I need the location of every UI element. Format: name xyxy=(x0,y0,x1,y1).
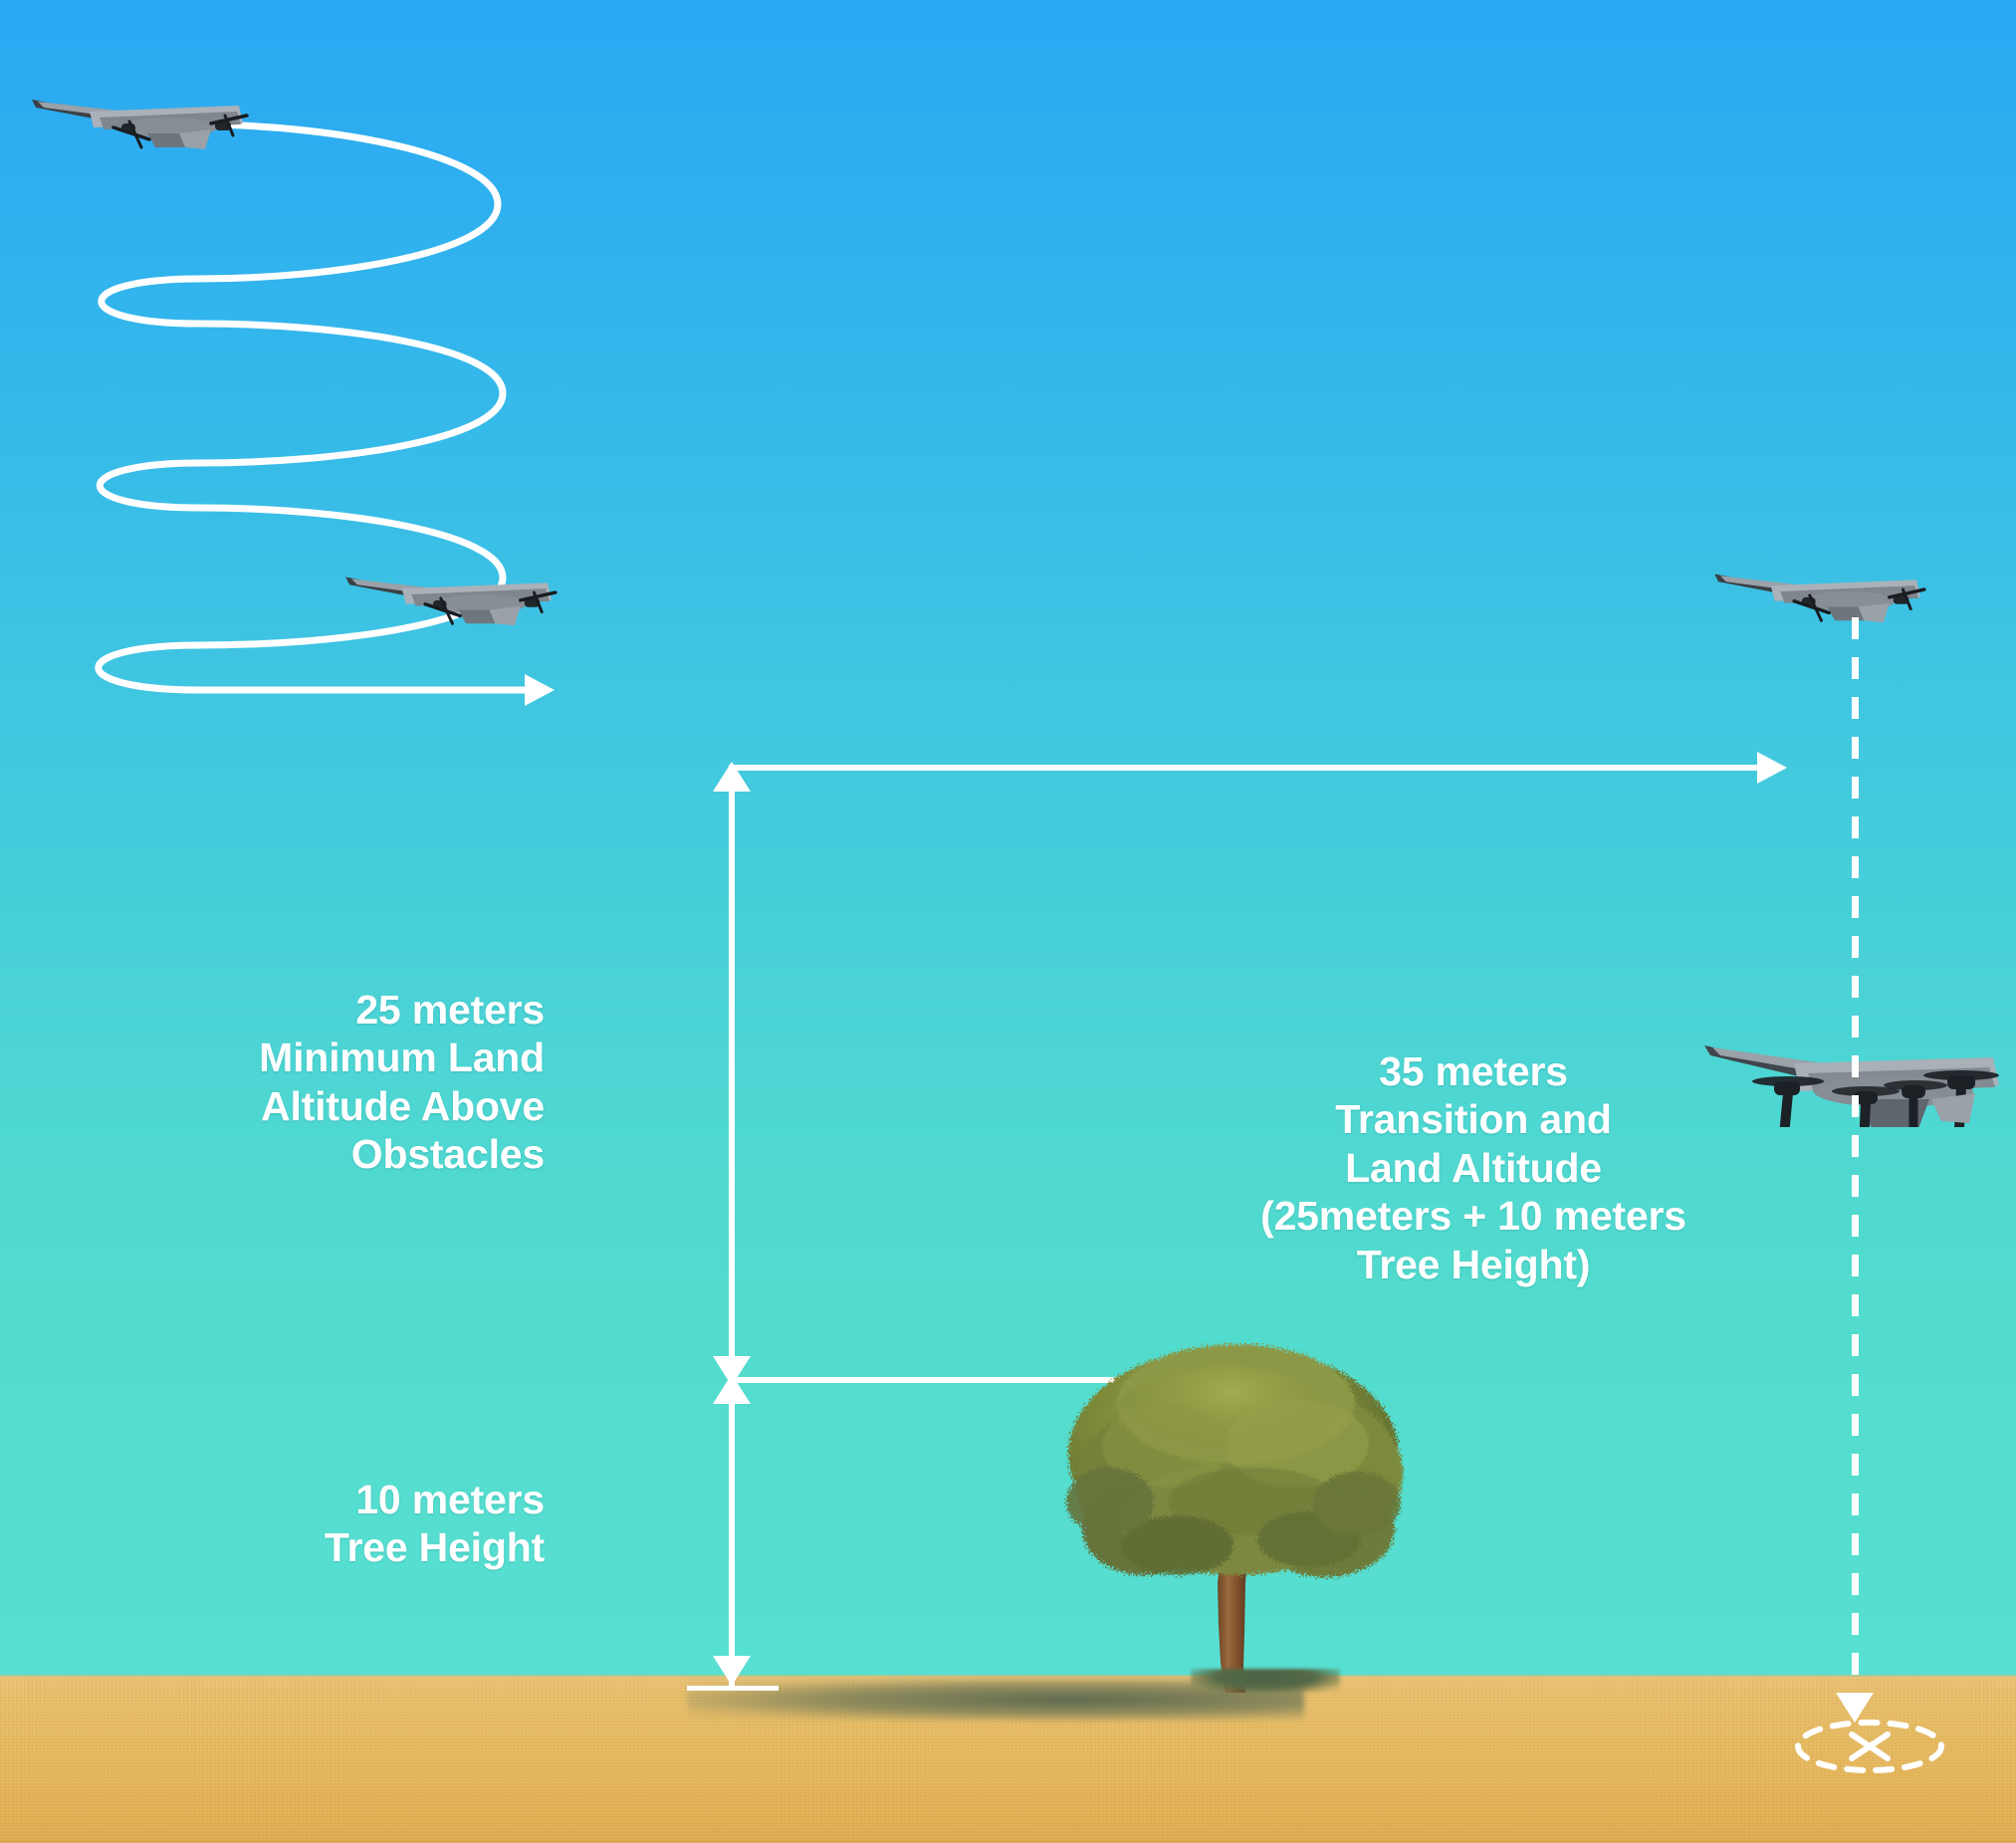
label-line: Tree Height) xyxy=(1185,1241,1762,1288)
label-line: Obstacles xyxy=(0,1130,545,1178)
label-line: Altitude Above xyxy=(0,1082,545,1130)
label-line: Tree Height xyxy=(0,1523,545,1571)
minimum-altitude-measure-line xyxy=(729,765,735,1386)
label-line: Land Altitude xyxy=(1185,1144,1762,1192)
fixed-wing-vtol-drone-icon xyxy=(343,556,558,635)
label-line: (25meters + 10 meters xyxy=(1185,1192,1762,1240)
minimum-altitude-top-arrowhead xyxy=(713,762,751,792)
fixed-wing-vtol-drone-icon xyxy=(1712,553,1926,632)
transition-land-altitude-label: 35 meters Transition and Land Altitude (… xyxy=(1185,1047,1762,1288)
label-line: 25 meters xyxy=(0,986,545,1034)
horizontal-cruise-arrow-line xyxy=(732,765,1765,771)
tree-obstacle xyxy=(1058,1334,1409,1693)
minimum-land-altitude-label: 25 meters Minimum Land Altitude Above Ob… xyxy=(0,986,545,1179)
label-line: 35 meters xyxy=(1185,1047,1762,1095)
label-line: 10 meters xyxy=(0,1476,545,1523)
label-line: Transition and xyxy=(1185,1095,1762,1143)
vertical-descent-dashed-line xyxy=(1852,617,1859,1723)
fixed-wing-vtol-drone-icon xyxy=(30,78,249,159)
spiral-path-arrowhead xyxy=(525,674,555,706)
tree-height-baseline-tick xyxy=(687,1686,779,1691)
tree-height-measure-line xyxy=(729,1380,735,1689)
tree-base-grass xyxy=(1191,1669,1340,1693)
tree-height-bottom-arrowhead xyxy=(713,1656,751,1686)
tree-height-label: 10 meters Tree Height xyxy=(0,1476,545,1572)
label-line: Minimum Land xyxy=(0,1034,545,1081)
landing-target-marker xyxy=(1790,1719,1949,1774)
diagram-scene: 25 meters Minimum Land Altitude Above Ob… xyxy=(0,0,2016,1843)
horizontal-cruise-arrowhead xyxy=(1757,752,1787,784)
tree-height-top-arrowhead xyxy=(713,1374,751,1404)
